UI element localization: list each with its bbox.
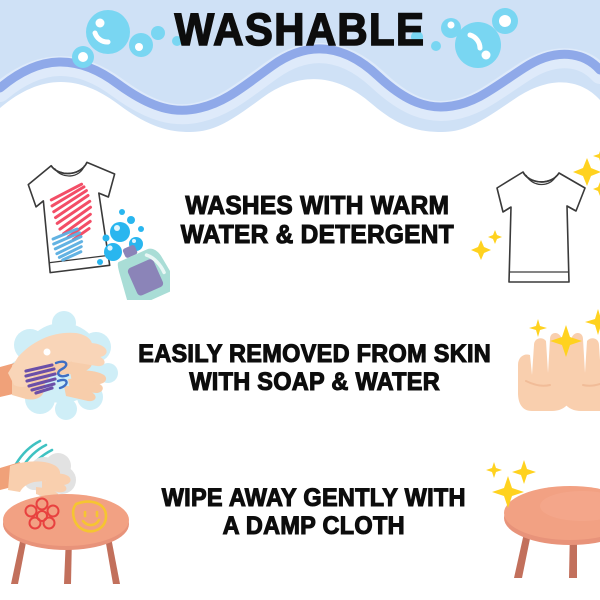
infographic-poster: WASHABLE xyxy=(0,0,600,600)
row-skin-text: EASILY REMOVED FROM SKIN WITH SOAP & WAT… xyxy=(136,340,493,396)
clean-hands-with-sparkles-illustration xyxy=(504,305,600,430)
row-skin-line-1: EASILY REMOVED FROM SKIN xyxy=(138,340,491,368)
table-with-drawings-illustration xyxy=(0,432,150,592)
washing-hands-illustration xyxy=(0,305,125,430)
page-title: WASHABLE xyxy=(21,6,579,53)
row-skin-line-2: WITH SOAP & WATER xyxy=(138,368,491,396)
row-washes-text: WASHES WITH WARM WATER & DETERGENT xyxy=(179,191,456,249)
row-wipe-line-1: WIPE AWAY GENTLY WITH xyxy=(162,484,466,512)
stained-tshirt-with-detergent-illustration xyxy=(0,140,170,300)
clean-tshirt-with-sparkles-illustration xyxy=(465,140,600,300)
row-wipe-text: WIPE AWAY GENTLY WITH A DAMP CLOTH xyxy=(160,484,468,540)
row-washes: WASHES WITH WARM WATER & DETERGENT xyxy=(0,140,600,300)
row-washes-line-1: WASHES WITH WARM xyxy=(181,191,454,220)
clean-table-with-sparkles-illustration xyxy=(478,432,600,592)
row-wipe: WIPE AWAY GENTLY WITH A DAMP CLOTH xyxy=(0,432,600,592)
row-washes-line-2: WATER & DETERGENT xyxy=(181,220,454,249)
row-skin: EASILY REMOVED FROM SKIN WITH SOAP & WAT… xyxy=(0,305,600,430)
row-wipe-line-2: A DAMP CLOTH xyxy=(162,512,466,540)
header-banner: WASHABLE xyxy=(0,0,600,132)
